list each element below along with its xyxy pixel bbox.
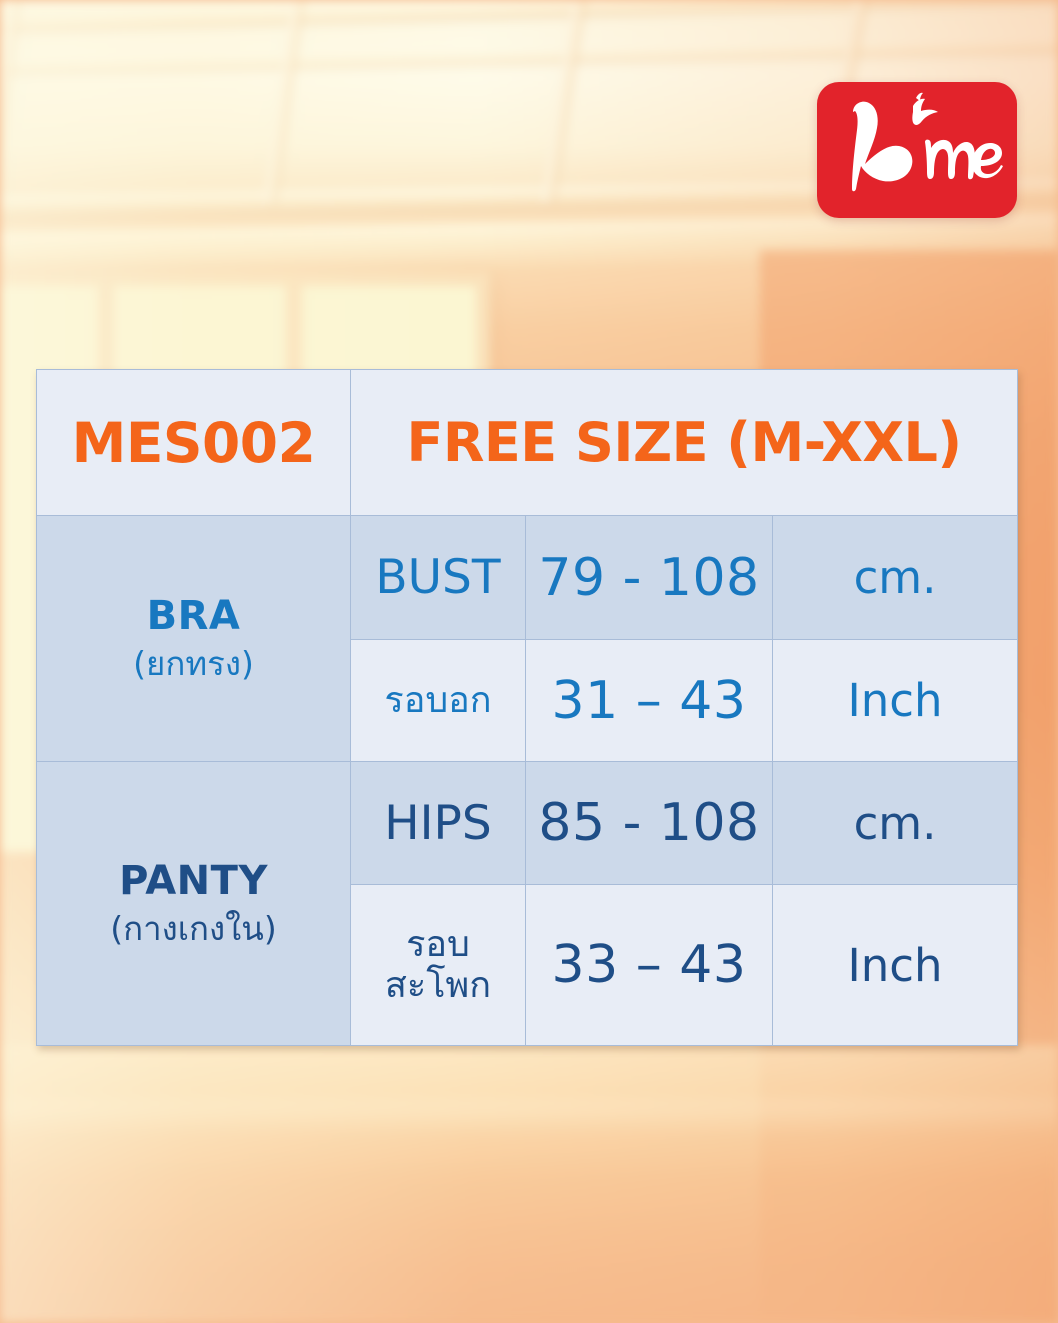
size-chart-table: MES002 FREE SIZE (M-XXL) BRA (ยกทรง) BUS… (36, 369, 1018, 1046)
table-header-row: MES002 FREE SIZE (M-XXL) (37, 370, 1018, 516)
metric-name-bust-th: รอบอก (351, 640, 526, 762)
metric-unit-bust-inch: Inch (773, 640, 1018, 762)
metric-unit-hips-cm: cm. (773, 762, 1018, 885)
metric-value-bust-cm: 79 - 108 (526, 516, 773, 640)
metric-name-bust: BUST (351, 516, 526, 640)
metric-value-hips-cm: 85 - 108 (526, 762, 773, 885)
metric-name-hips-th-line1: รอบ (406, 924, 470, 965)
table-row: PANTY (กางเกงใน) HIPS 85 - 108 cm. (37, 762, 1018, 885)
product-code-cell: MES002 (37, 370, 351, 516)
group-label-en: PANTY (37, 858, 350, 905)
group-label-bra: BRA (ยกทรง) (37, 516, 351, 762)
metric-value-hips-inch: 33 – 43 (526, 885, 773, 1046)
group-label-en: BRA (37, 593, 350, 640)
brand-logo (817, 82, 1017, 218)
group-label-th: (ยกทรง) (37, 645, 350, 684)
metric-name-hips-th-line2: สะโพก (385, 965, 491, 1006)
metric-name-hips-th: รอบ สะโพก (351, 885, 526, 1046)
metric-name-hips: HIPS (351, 762, 526, 885)
group-label-panty: PANTY (กางเกงใน) (37, 762, 351, 1046)
size-range-cell: FREE SIZE (M-XXL) (351, 370, 1018, 516)
table-row: BRA (ยกทรง) BUST 79 - 108 cm. (37, 516, 1018, 640)
group-label-th: (กางเกงใน) (37, 910, 350, 949)
metric-value-bust-inch: 31 – 43 (526, 640, 773, 762)
size-chart-page: MES002 FREE SIZE (M-XXL) BRA (ยกทรง) BUS… (0, 0, 1058, 1323)
bme-heart-bird-logo-icon (817, 82, 1017, 218)
metric-unit-hips-inch: Inch (773, 885, 1018, 1046)
metric-unit-bust-cm: cm. (773, 516, 1018, 640)
